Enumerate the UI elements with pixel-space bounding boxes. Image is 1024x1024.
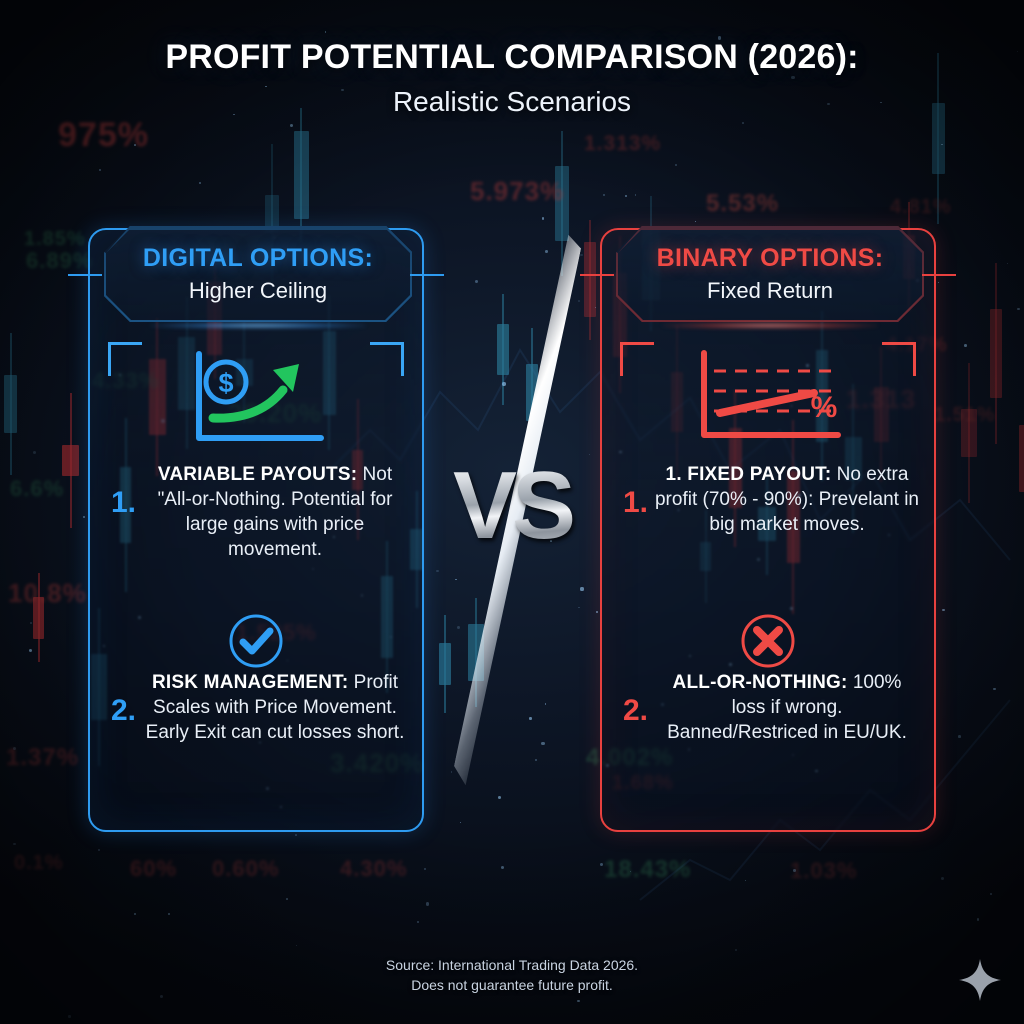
footer-source-line: Source: International Trading Data 2026. — [0, 955, 1024, 975]
digital-point-1: 1. VARIABLE PAYOUTS: Not "All-or-Nothing… — [90, 462, 422, 562]
header-tick-left — [68, 274, 102, 276]
page-title: PROFIT POTENTIAL COMPARISON (2026): — [0, 38, 1024, 77]
header-glow-bar — [662, 323, 878, 328]
binary-point-1-lead: 1. FIXED PAYOUT: — [666, 464, 832, 485]
svg-text:%: % — [811, 391, 838, 424]
digital-point-1-lead: VARIABLE PAYOUTS: — [158, 464, 357, 485]
digital-options-card[interactable]: DIGITAL OPTIONS: Higher Ceiling $ 1. VAR… — [88, 228, 424, 832]
digital-point-1-number: 1. — [90, 462, 136, 518]
binary-point-1: 1. 1. FIXED PAYOUT: No extra profit (70%… — [602, 462, 934, 537]
sparkle-icon — [958, 958, 1002, 1002]
digital-point-2: 2. RISK MANAGEMENT: Profit Scales with P… — [90, 670, 422, 745]
digital-point-2-number: 2. — [90, 670, 136, 726]
header-tick-right — [922, 274, 956, 276]
footer: Source: International Trading Data 2026.… — [0, 955, 1024, 996]
page-title-block: PROFIT POTENTIAL COMPARISON (2026): Real… — [0, 38, 1024, 118]
binary-mid-icon-area — [602, 612, 934, 670]
card-header-title: DIGITAL OPTIONS: — [143, 244, 373, 273]
digital-icon-area: $ — [90, 342, 422, 454]
versus-divider: VS — [432, 230, 592, 830]
binary-point-2-lead: ALL-OR-NOTHING: — [673, 672, 848, 693]
binary-point-2-number: 2. — [602, 670, 648, 726]
binary-icon-area: % — [602, 342, 934, 454]
binary-options-card[interactable]: BINARY OPTIONS: Fixed Return % 1. 1. FIX… — [600, 228, 936, 832]
check-circle-icon — [227, 612, 285, 670]
svg-text:$: $ — [218, 368, 233, 398]
digital-point-2-lead: RISK MANAGEMENT: — [152, 672, 348, 693]
card-header-title: BINARY OPTIONS: — [657, 244, 884, 273]
versus-label: VS — [432, 458, 592, 554]
card-header: DIGITAL OPTIONS: Higher Ceiling — [104, 226, 412, 322]
x-circle-icon — [739, 612, 797, 670]
page-subtitle: Realistic Scenarios — [0, 86, 1024, 118]
binary-point-2: 2. ALL-OR-NOTHING: 100% loss if wrong. B… — [602, 670, 934, 745]
digital-mid-icon-area — [90, 612, 422, 670]
card-header-subtitle: Fixed Return — [707, 278, 833, 304]
card-header-subtitle: Higher Ceiling — [189, 278, 327, 304]
footer-disclaimer-line: Does not guarantee future profit. — [0, 975, 1024, 995]
header-glow-bar — [150, 323, 366, 328]
infographic-canvas: 975%1.313%5.973%5.53%4.81%1.85%6.89%4.33… — [0, 0, 1024, 1024]
binary-point-1-number: 1. — [602, 462, 648, 518]
dollar-growth-chart-icon: $ — [181, 346, 331, 451]
percent-flat-chart-icon: % — [688, 347, 848, 449]
card-header: BINARY OPTIONS: Fixed Return — [616, 226, 924, 322]
